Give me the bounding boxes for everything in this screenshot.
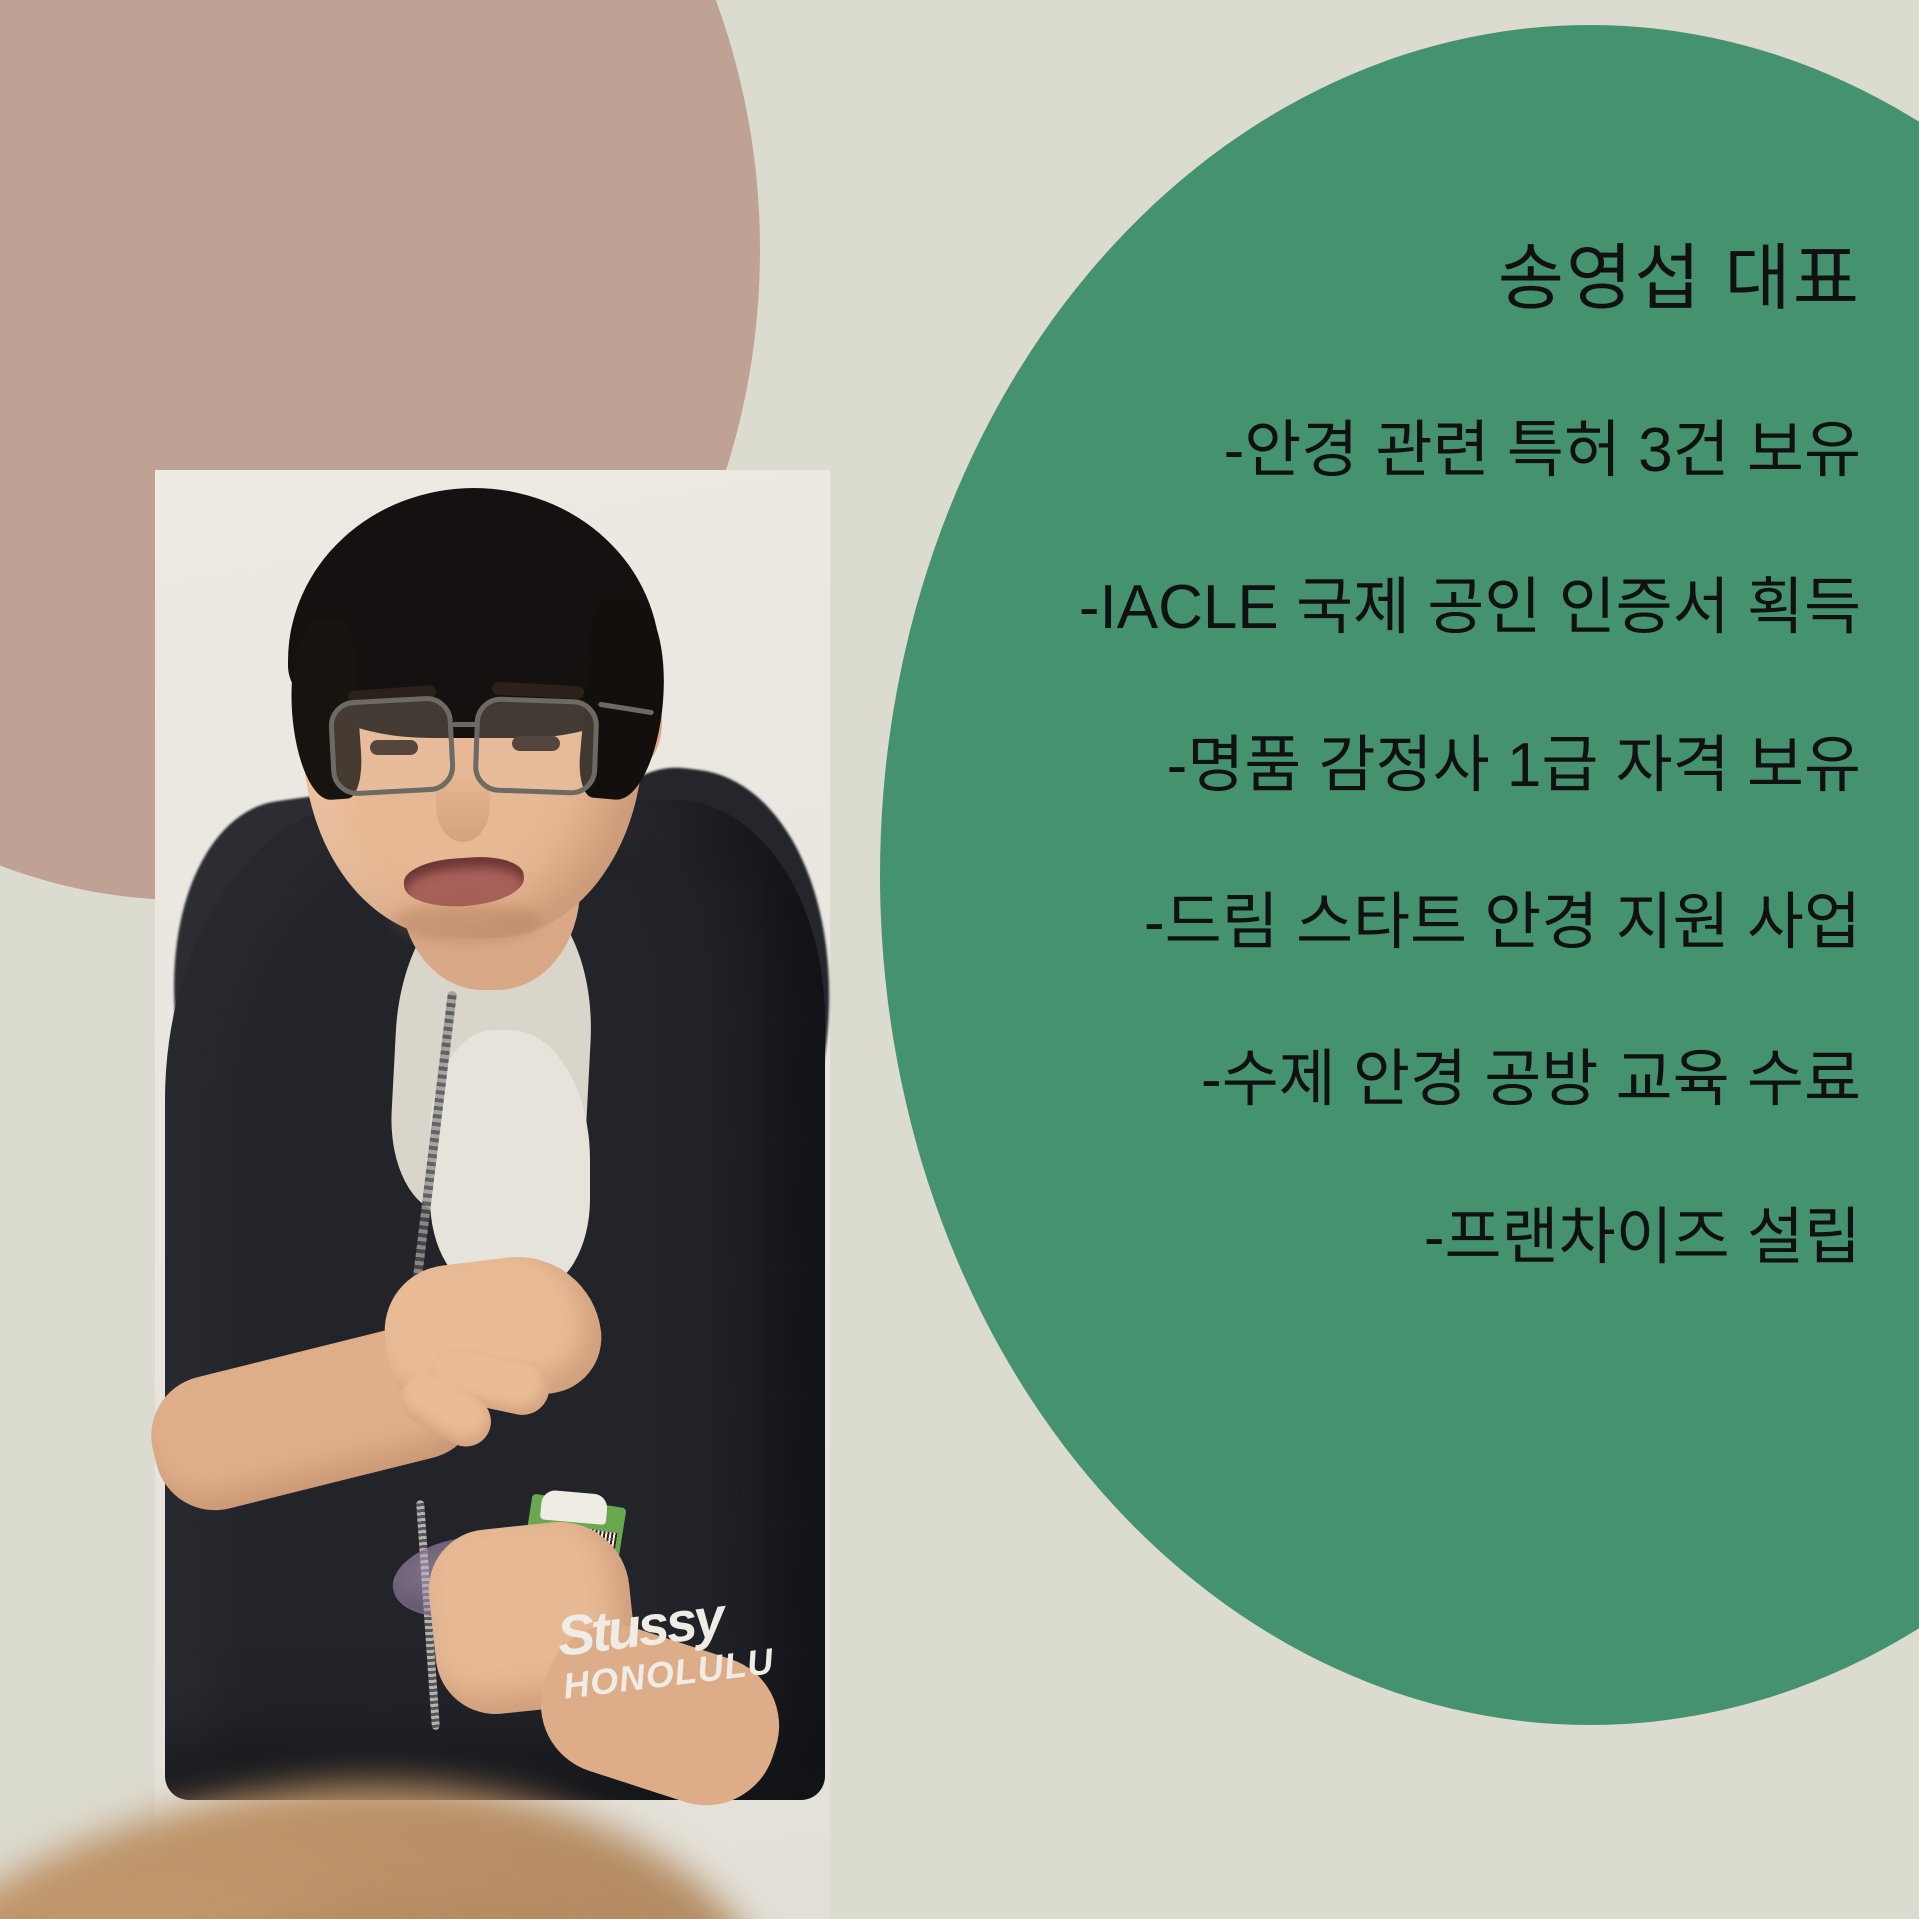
packet-cap xyxy=(540,1489,608,1525)
nose xyxy=(436,770,490,842)
panel-title: 송영섭 대표 xyxy=(881,240,1861,319)
credential-item-2: -IACLE 국제 공인 인증서 획득 xyxy=(881,572,1861,643)
poster-canvas: Stussy HONOLULU 송영섭 대표 -안경 관련 특허 3건 보유 -… xyxy=(0,0,1919,1919)
credential-item-3: -명품 감정사 1급 자격 보유 xyxy=(881,730,1861,801)
inner-shirt-lower xyxy=(430,1030,590,1290)
eyeglasses-lens-right xyxy=(472,696,599,796)
credential-item-5: -수제 안경 공방 교육 수료 xyxy=(881,1044,1861,1115)
credential-item-4: -드림 스타트 안경 지원 사업 xyxy=(881,887,1861,958)
credential-item-1: -안경 관련 특허 3건 보유 xyxy=(881,415,1861,486)
credential-item-6: -프랜차이즈 설립 xyxy=(881,1202,1861,1273)
credentials-panel: 송영섭 대표 -안경 관련 특허 3건 보유 -IACLE 국제 공인 인증서 … xyxy=(881,240,1861,1273)
portrait-photo: Stussy HONOLULU xyxy=(0,470,830,1919)
hoodie-chest-logo: Stussy HONOLULU xyxy=(554,1587,746,1718)
eyeglasses-lens-left xyxy=(328,695,457,797)
eyeglasses-bridge xyxy=(452,722,480,727)
chin-shadow xyxy=(392,902,542,942)
